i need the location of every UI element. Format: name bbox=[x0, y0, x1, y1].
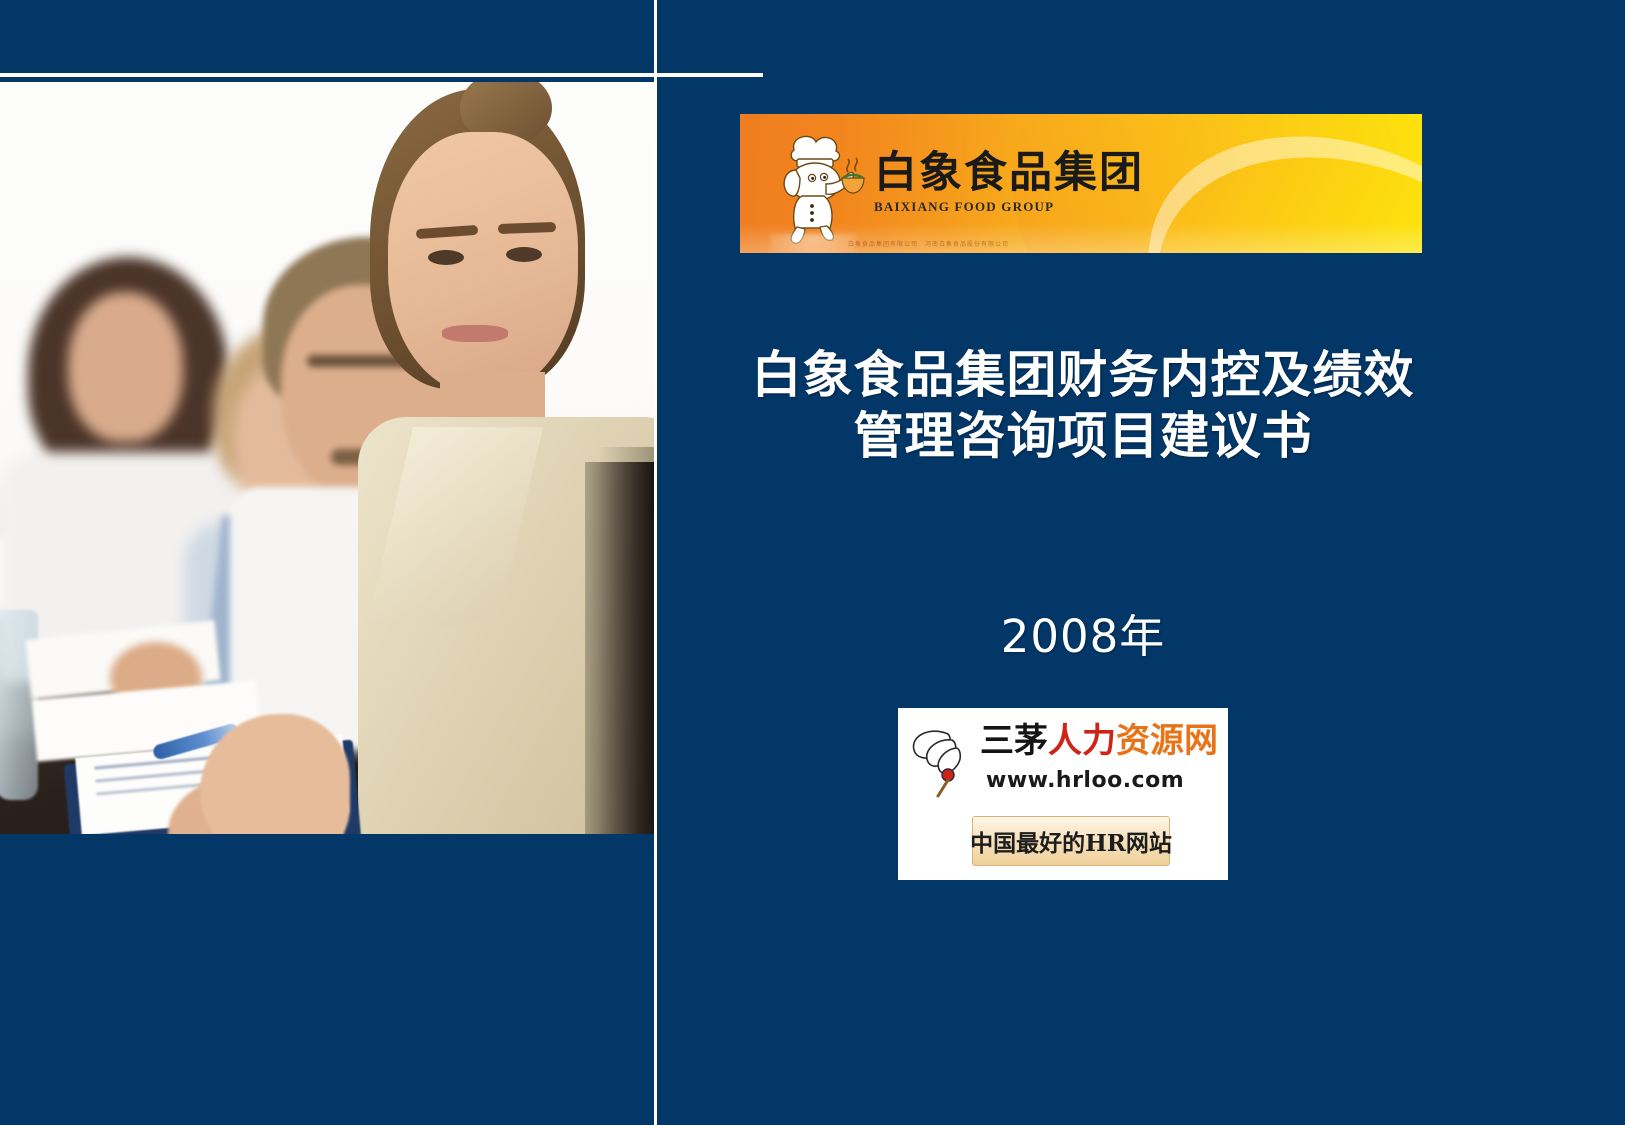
hr-tagline-button[interactable]: 中国最好的HR网站 bbox=[972, 816, 1170, 866]
business-meeting-photo bbox=[0, 82, 655, 834]
brand-name-cn: 白象食品集团 bbox=[874, 152, 1144, 195]
butterfly-icon bbox=[908, 726, 980, 800]
brand-text-block: 白象食品集团 BAIXIANG FOOD GROUP bbox=[874, 152, 1144, 213]
face bbox=[388, 132, 578, 394]
left-eye bbox=[428, 250, 464, 265]
right-eyebrow bbox=[498, 222, 556, 234]
page-title-line-1: 白象食品集团财务内控及绩效 bbox=[740, 345, 1426, 406]
sanmao-hr-logo-card: 三茅人力资源网 www.hrloo.com 中国最好的HR网站 bbox=[898, 708, 1228, 880]
banner-fine-print: 白象食品集团有限公司 河南白象食品股份有限公司 bbox=[848, 239, 1009, 248]
page-title: 白象食品集团财务内控及绩效 管理咨询项目建议书 bbox=[740, 345, 1426, 467]
presentation-title-slide: 白象食品集团 BAIXIANG FOOD GROUP 白象食品集团有限公司 河南… bbox=[0, 0, 1625, 1125]
year-label: 2008年 bbox=[740, 600, 1426, 665]
column-divider-line bbox=[654, 0, 657, 1125]
brand-name-en: BAIXIANG FOOD GROUP bbox=[874, 200, 1144, 213]
hr-wordmark-part-1: 三茅 bbox=[980, 721, 1048, 761]
page-title-line-2: 管理咨询项目建议书 bbox=[740, 406, 1426, 467]
hr-website-url[interactable]: www.hrloo.com bbox=[986, 768, 1184, 793]
header-divider-line bbox=[0, 73, 763, 77]
hr-wordmark-part-3: 资源网 bbox=[1116, 721, 1218, 761]
lips bbox=[442, 325, 508, 342]
photo-right-shadow bbox=[585, 462, 655, 834]
face bbox=[68, 292, 183, 442]
hr-logo-row: 三茅人力资源网 www.hrloo.com bbox=[908, 722, 1224, 806]
hr-wordmark: 三茅人力资源网 bbox=[980, 724, 1218, 758]
hr-wordmark-part-2: 人力 bbox=[1048, 721, 1116, 761]
banner-reflection bbox=[740, 223, 1422, 253]
right-eye bbox=[506, 247, 542, 262]
baixiang-food-group-logo-banner: 白象食品集团 BAIXIANG FOOD GROUP 白象食品集团有限公司 河南… bbox=[740, 114, 1422, 253]
hr-tagline-label: 中国最好的HR网站 bbox=[970, 824, 1172, 858]
